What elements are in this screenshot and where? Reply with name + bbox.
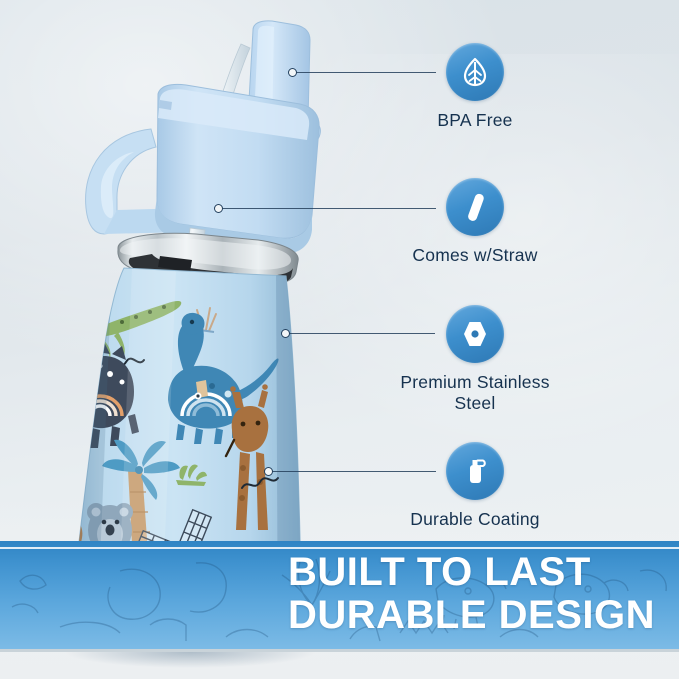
feature-premium-stainless-steel: Premium Stainless Steel bbox=[380, 305, 570, 414]
hex-nut-icon bbox=[446, 305, 504, 363]
feature-label: Comes w/Straw bbox=[412, 245, 537, 266]
bottle-icon bbox=[446, 442, 504, 500]
banner-headline: BUILT TO LAST DURABLE DESIGN bbox=[288, 551, 655, 637]
product-feature-graphic: BPA Free Comes w/Straw Premium Stainless… bbox=[0, 0, 679, 679]
connector-dot-1 bbox=[288, 68, 297, 77]
connector-dot-4 bbox=[264, 467, 273, 476]
bottom-banner: BUILT TO LAST DURABLE DESIGN bbox=[0, 541, 679, 649]
feature-label: Premium Stainless Steel bbox=[400, 372, 549, 414]
banner-bottom-edge bbox=[0, 649, 679, 652]
connector-dot-3 bbox=[281, 329, 290, 338]
feature-comes-with-straw: Comes w/Straw bbox=[380, 178, 570, 266]
leaf-icon bbox=[446, 43, 504, 101]
feature-durable-coating: Durable Coating bbox=[380, 442, 570, 530]
straw-icon bbox=[446, 178, 504, 236]
connector-dot-2 bbox=[214, 204, 223, 213]
feature-label: Durable Coating bbox=[410, 509, 539, 530]
feature-bpa-free: BPA Free bbox=[380, 43, 570, 131]
feature-label: BPA Free bbox=[437, 110, 512, 131]
